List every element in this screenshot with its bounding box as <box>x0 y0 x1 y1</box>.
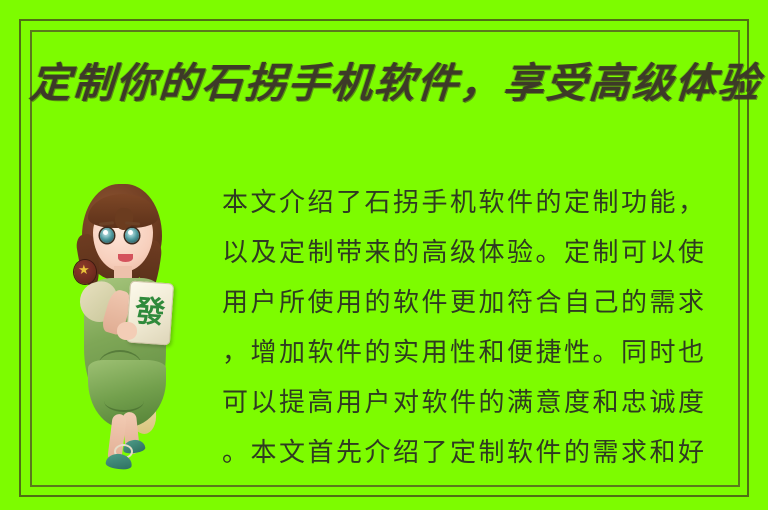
cartoon-girl-illustration: 發 <box>62 182 210 472</box>
eye-right <box>125 228 139 243</box>
body-line: 可以提高用户对软件的满意度和忠诚度 <box>222 378 724 428</box>
page-title: 定制你的石拐手机软件，享受高级体验 <box>28 55 742 111</box>
mahjong-tile-glyph: 發 <box>134 297 166 329</box>
body-line: ，增加软件的实用性和便捷性。同时也 <box>222 328 724 378</box>
body-copy: 本文介绍了石拐手机软件的定制功能， 以及定制带来的高级体验。定制可以使 用户所使… <box>222 178 724 478</box>
body-line: 本文介绍了石拐手机软件的定制功能， <box>222 178 724 228</box>
eye-left <box>100 228 114 243</box>
mouth <box>118 254 133 262</box>
body-line: 。本文首先介绍了定制软件的需求和好 <box>222 428 724 478</box>
hand <box>117 322 137 340</box>
body-line: 用户所使用的软件更加符合自己的需求 <box>222 278 724 328</box>
poster-canvas: 定制你的石拐手机软件，享受高级体验 發 本文介绍了石拐手机软件的定制功能， 以及… <box>0 0 768 510</box>
body-line: 以及定制带来的高级体验。定制可以使 <box>222 228 724 278</box>
star-earring-icon <box>74 260 96 284</box>
